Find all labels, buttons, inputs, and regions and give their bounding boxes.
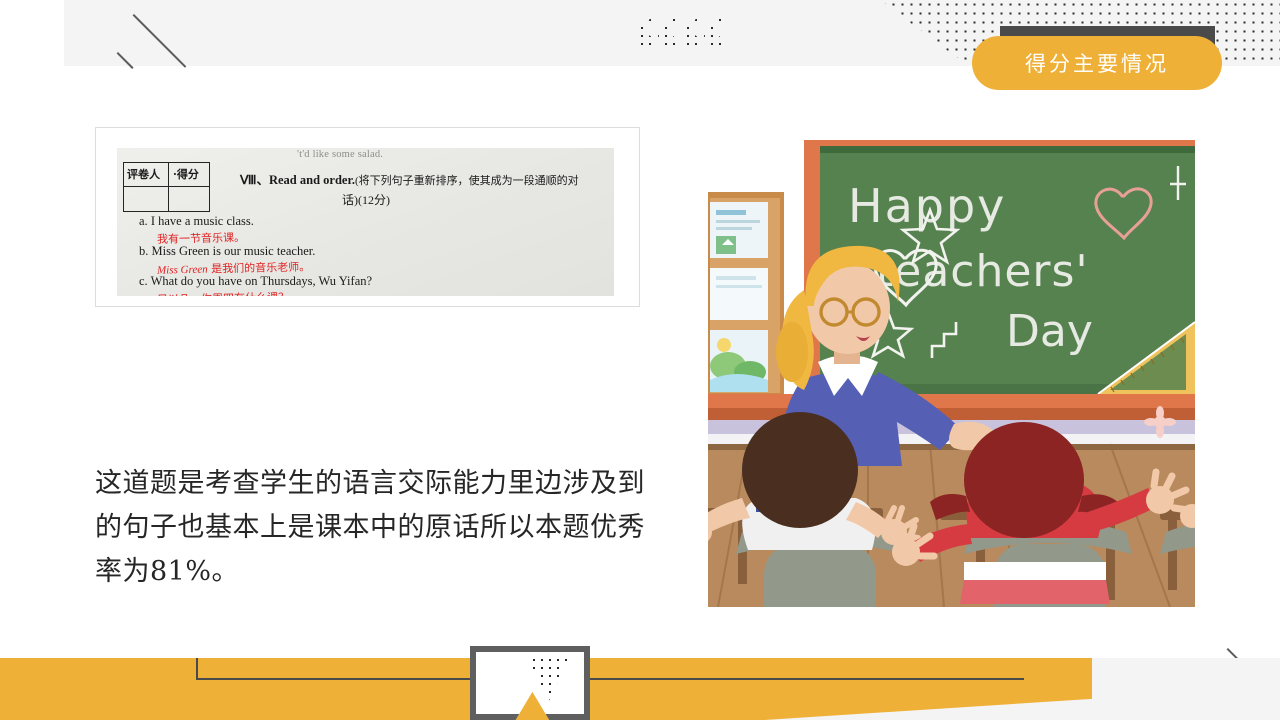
- chalk-line-day: Day: [1006, 306, 1093, 357]
- worksheet-item-c: c. What do you have on Thursdays, Wu Yif…: [139, 274, 372, 289]
- worksheet-photo-clip: 't'd like some salad. 评卷人 ·得分 Ⅷ、Read and…: [95, 127, 642, 296]
- slide-root: “ “ 得分主要情况 't'd like some salad. 评卷人 ·得分…: [0, 0, 1280, 720]
- section-instruction-text: (将下列句子重新排序，使其成为一段通顺的对: [355, 175, 579, 187]
- worksheet-faint-topline: 't'd like some salad.: [297, 149, 383, 160]
- quote-mark-dots-icon: “ “: [630, 14, 724, 66]
- worksheet-section-instruction2: 话)(12分): [342, 191, 390, 208]
- worksheet-item-a: a. I have a music class.: [139, 214, 254, 229]
- classroom-scene-svg: Happy teachers' Day: [708, 140, 1195, 607]
- worksheet-item-b: b. Miss Green is our music teacher.: [139, 244, 315, 259]
- worksheet-score-table: 评卷人 ·得分: [123, 162, 210, 212]
- bottom-decoration: [0, 640, 1280, 720]
- quote-glyph-2: “: [676, 14, 724, 66]
- bottom-outline-accent: [196, 658, 1024, 680]
- worksheet-image: 't'd like some salad. 评卷人 ·得分 Ⅷ、Read and…: [117, 148, 614, 296]
- item-a-letter: a.: [139, 214, 148, 228]
- table-horizontal-divider: [124, 186, 209, 187]
- table-header-score: ·得分: [173, 166, 199, 182]
- worksheet-section-title: Ⅷ、Read and order.(将下列句子重新排序，使其成为一段通顺的对: [240, 169, 579, 188]
- item-b-english: Miss Green is our music teacher.: [152, 244, 316, 258]
- item-c-english: What do you have on Thursdays, Wu Yifan?: [151, 274, 372, 288]
- classroom-illustration: Happy teachers' Day: [708, 140, 1195, 607]
- item-c-letter: c.: [139, 274, 148, 288]
- title-badge-label: 得分主要情况: [1025, 48, 1169, 78]
- body-paragraph: 这道题是考查学生的语言交际能力里边涉及到的句子也基本上是课本中的原话所以本题优秀…: [95, 462, 655, 594]
- item-a-english: I have a music class.: [151, 214, 254, 228]
- worksheet-annotation-c: 吴以凡，你周四有什么课？: [157, 289, 289, 296]
- section-title-text: Ⅷ、Read and order.: [240, 173, 355, 187]
- bottom-notch-shape: [470, 646, 590, 720]
- table-header-grader: 评卷人: [127, 166, 160, 182]
- chalk-line-teachers: teachers': [876, 246, 1089, 297]
- quote-glyph-1: “: [630, 14, 682, 66]
- title-badge: 得分主要情况: [972, 36, 1222, 90]
- item-b-letter: b.: [139, 244, 148, 258]
- chalk-line-happy: Happy: [848, 179, 1006, 233]
